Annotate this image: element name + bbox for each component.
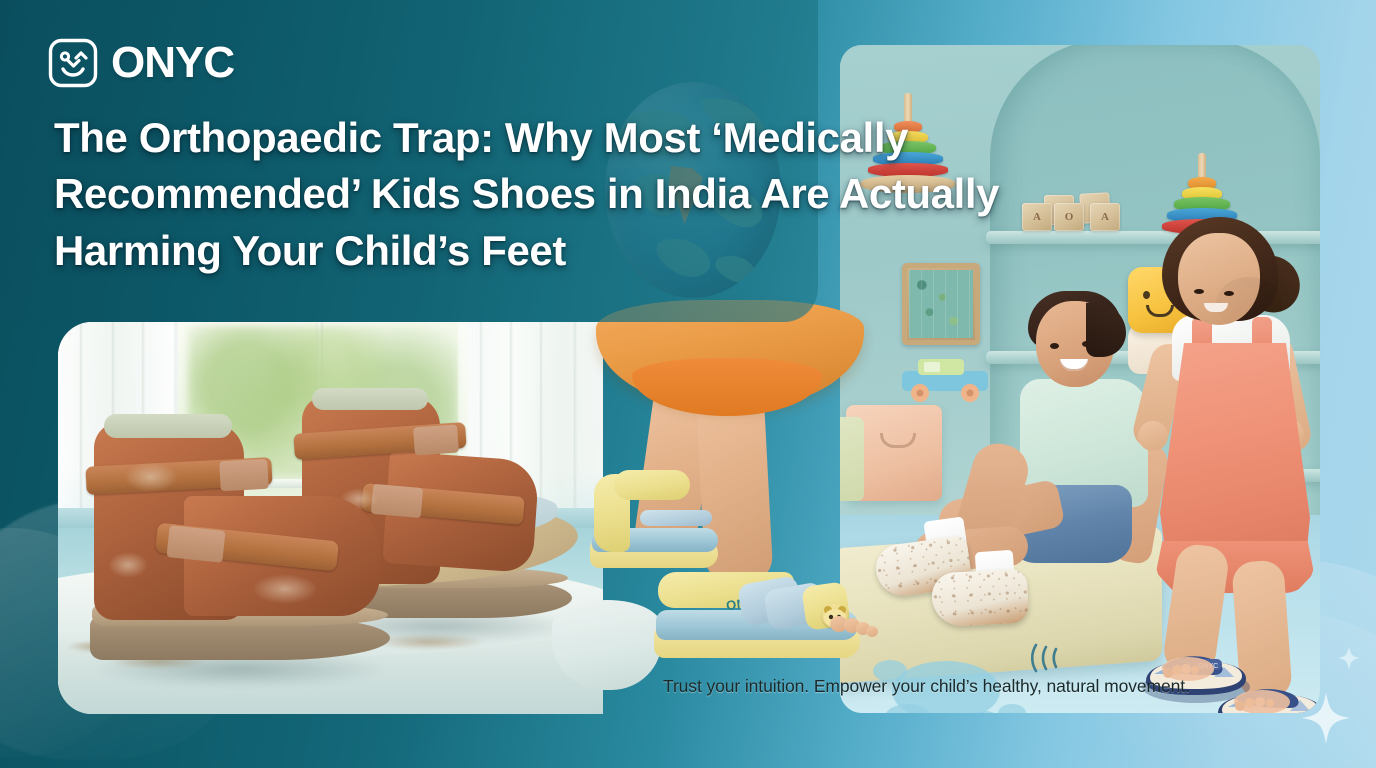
flip-flop-right (1212, 681, 1320, 713)
barefoot-shoe-right (931, 569, 1030, 628)
winking-smiley-face-icon (48, 38, 98, 88)
wooden-toy-car (900, 355, 992, 403)
brand-logo[interactable]: ONYC (48, 38, 234, 88)
tagline-caption: Trust your intuition. Empower your child… (663, 676, 1190, 697)
motion-lines-icon (1030, 641, 1070, 680)
brand-name: ONYC (111, 41, 234, 85)
orthopaedic-boot-front (72, 404, 402, 684)
pedestal (552, 600, 662, 690)
orthopaedic-boots-photo (58, 322, 603, 714)
onyc-sandal-front: ONYC (654, 566, 860, 662)
toddler-in-onyc-sandals: ONYC (588, 300, 888, 680)
page-title: The Orthopaedic Trap: Why Most ‘Medicall… (54, 110, 1114, 279)
